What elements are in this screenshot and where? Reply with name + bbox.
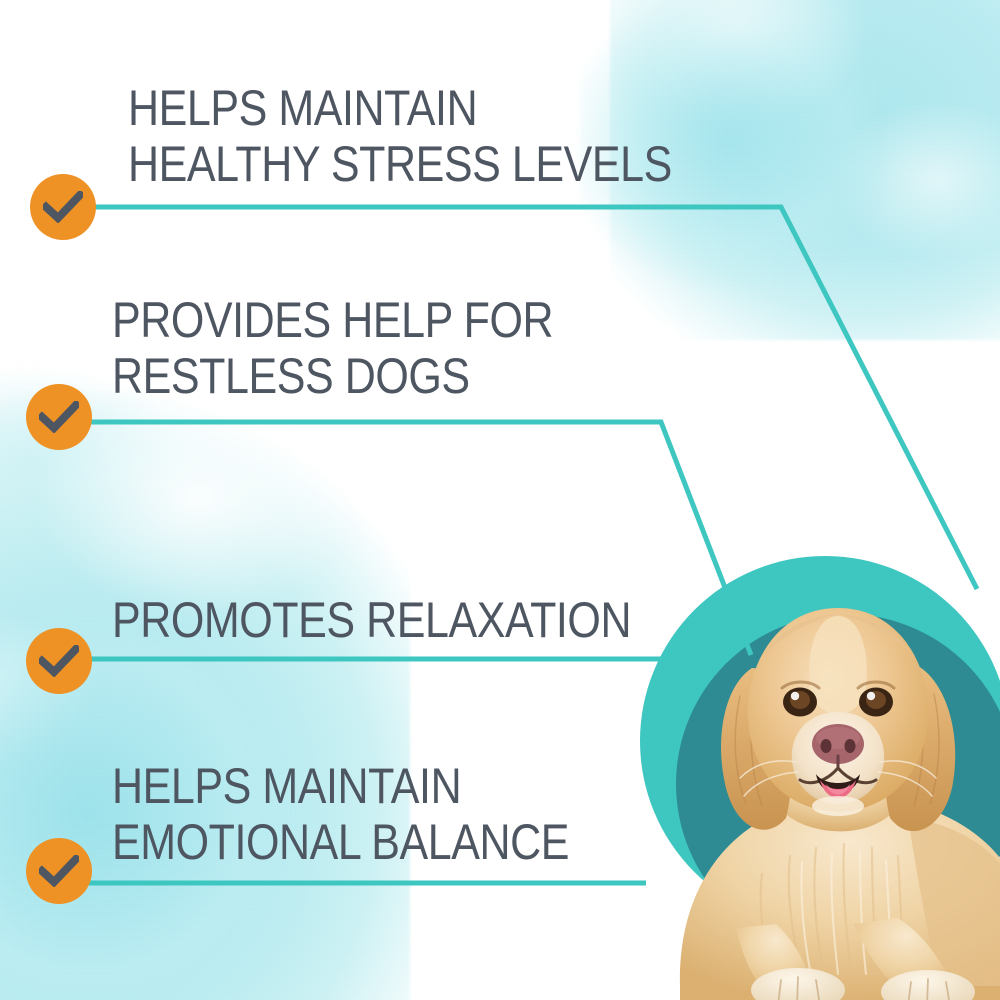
feature-3-text: PROMOTES RELAXATION [112, 592, 631, 648]
feature-1-line-1: HELPS MAINTAIN [128, 80, 672, 136]
check-circle-icon[interactable] [26, 838, 92, 904]
feature-2-line-2: RESTLESS DOGS [112, 348, 553, 404]
feature-2-line-1: PROVIDES HELP FOR [112, 292, 553, 348]
feature-1-text: HELPS MAINTAIN HEALTHY STRESS LEVELS [128, 80, 672, 192]
check-circle-icon[interactable] [30, 174, 96, 240]
promo-graphic: HELPS MAINTAIN HEALTHY STRESS LEVELS PRO… [0, 0, 1000, 1000]
feature-1-line-2: HEALTHY STRESS LEVELS [128, 136, 672, 192]
check-circle-icon[interactable] [26, 384, 92, 450]
feature-4-text: HELPS MAINTAIN EMOTIONAL BALANCE [112, 758, 569, 870]
check-icon [39, 401, 79, 433]
feature-4-line-1: HELPS MAINTAIN [112, 758, 569, 814]
check-icon [39, 645, 79, 677]
check-circle-icon[interactable] [26, 628, 92, 694]
feature-2-text: PROVIDES HELP FOR RESTLESS DOGS [112, 292, 553, 404]
feature-3-line-1: PROMOTES RELAXATION [112, 592, 631, 648]
feature-4-line-2: EMOTIONAL BALANCE [112, 814, 569, 870]
check-icon [43, 191, 83, 223]
check-icon [39, 855, 79, 887]
